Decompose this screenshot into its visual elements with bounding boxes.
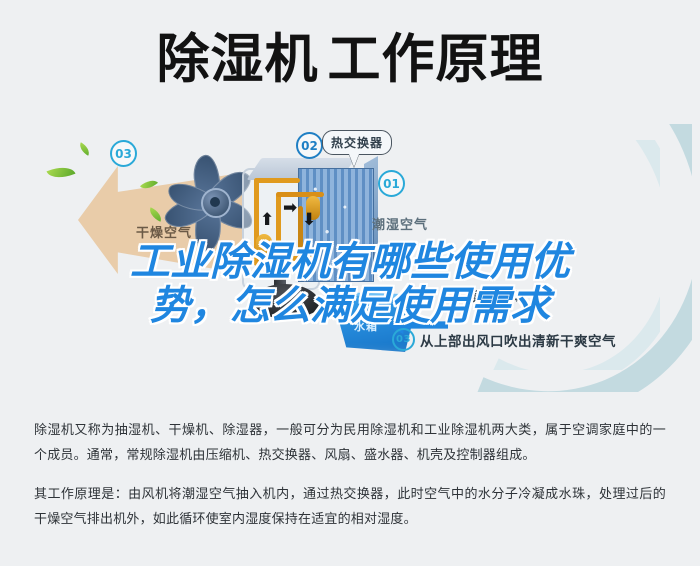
condensation-label: 凝成水珠 <box>470 286 526 305</box>
refrigerant-pipe <box>254 178 300 183</box>
leaf-icon <box>77 142 92 155</box>
refrigerant-pipe <box>276 192 281 262</box>
flow-arrow-up-icon: ⬆ <box>260 212 274 229</box>
badge-03-top: 03 <box>110 140 137 167</box>
water-tank-label: 水箱 <box>354 318 378 334</box>
title-part1: 除湿机 <box>157 29 319 90</box>
badge-03-bottom: 03 <box>392 328 415 351</box>
moist-air-label: 潮湿空气 <box>372 214 428 233</box>
bottom-callout-text: 从上部出风口吹出清新干爽空气 <box>420 330 616 350</box>
bottom-callout-03: 03 从上部出风口吹出清新干爽空气 <box>392 328 616 351</box>
leaf-icon <box>47 162 76 184</box>
heat-exchanger-callout-bubble: 热交换器 <box>322 130 392 155</box>
coil-component <box>256 234 272 264</box>
article-body: 除湿机又称为抽湿机、干燥机、除湿器，一般可分为民用除湿机和工业除湿机两大类，属于… <box>0 400 700 532</box>
article-page: 除湿机工作原理 干燥空气 <box>0 0 700 566</box>
flow-arrow-down-icon: ⬇ <box>302 212 316 229</box>
fan-hub <box>201 188 231 218</box>
flow-arrow-right-icon: ➡ <box>283 200 297 217</box>
page-title: 除湿机工作原理 <box>0 0 700 118</box>
paragraph-1: 除湿机又称为抽湿机、干燥机、除湿器，一般可分为民用除湿机和工业除湿机两大类，属于… <box>34 418 666 468</box>
refrigerant-pipe <box>266 256 320 261</box>
paragraph-2: 其工作原理是：由风机将潮湿空气抽入机内，通过热交换器，此时空气中的水分子冷凝成水… <box>34 482 666 532</box>
compressor-icon <box>250 284 320 318</box>
title-text: 除湿机工作原理 <box>157 33 544 86</box>
dehumidifier-diagram: 干燥空气 ➡ <box>0 118 700 400</box>
title-part2: 工作原理 <box>328 29 544 90</box>
badge-02: 02 <box>296 132 323 159</box>
badge-01: 01 <box>378 170 405 197</box>
